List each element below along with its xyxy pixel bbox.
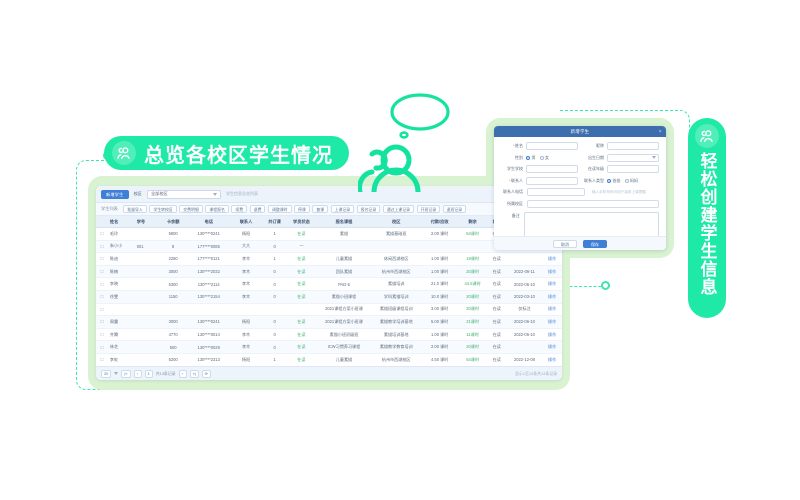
cell-name: 毛玲 bbox=[108, 231, 135, 237]
toolbar-button[interactable]: 课程报名 bbox=[205, 205, 229, 213]
cell-status: 一 bbox=[286, 243, 316, 249]
cell-course: 2021课程方案小班课 bbox=[317, 306, 372, 312]
cell-contact: 大大 bbox=[229, 243, 263, 249]
contact-label-text: 联系人 bbox=[511, 178, 523, 183]
column-header-money[interactable]: 付款/应收 bbox=[421, 219, 458, 225]
cell-phone: 130****0241 bbox=[188, 231, 229, 236]
table-header-row: 姓名 学号 卡余额 电话 联系人 共订课 学员状态 报名课程 校区 付款/应收 … bbox=[96, 216, 562, 228]
new-student-button[interactable]: 新增学生 bbox=[101, 190, 129, 199]
people-thought-bubble-icon bbox=[358, 88, 462, 192]
cell-date: 2022-12-08 bbox=[507, 357, 543, 362]
table-row[interactable]: ☐徐雯1150130****2154李木0在读素描小班课程学科素描培训10.0 … bbox=[96, 291, 562, 304]
record-range-text: 显示1至13条共13条记录 bbox=[515, 371, 557, 377]
cell-money: 2.00 课时 bbox=[421, 231, 458, 237]
form-row: 学生学校 在读年级 bbox=[501, 165, 659, 173]
cell-campus: 素描教学教育培训 bbox=[371, 344, 421, 350]
nickname-input[interactable] bbox=[607, 142, 659, 150]
form-row: 所属校区 bbox=[501, 200, 659, 208]
cell-amount: 3000 bbox=[158, 319, 188, 324]
cell-balance: 20课时 bbox=[458, 294, 487, 300]
cell-amount: 1150 bbox=[158, 294, 188, 299]
cell-course: 2021课程方案小班课 bbox=[317, 319, 372, 325]
cell-phone: 130****2313 bbox=[188, 357, 229, 362]
connector-dot-right bbox=[601, 281, 610, 290]
cell-name: 陈楠 bbox=[108, 269, 135, 275]
column-header-count[interactable]: 共订课 bbox=[263, 219, 286, 225]
cell-amount: 3000 bbox=[158, 269, 188, 274]
table-row[interactable]: ☐陈楠3000130****2032李木0在读团队素描杭州市西湖校区1.00 课… bbox=[96, 266, 562, 279]
cell-amount: 5300 bbox=[158, 282, 188, 287]
cell-phone: 130****0241 bbox=[188, 319, 229, 324]
contact-role-field-group: 联系人类型 爸爸 妈妈 bbox=[582, 178, 659, 184]
cell-operation[interactable]: 操作 bbox=[542, 357, 562, 363]
column-header-no[interactable]: 学号 bbox=[135, 219, 158, 225]
cell-name: 周露 bbox=[108, 319, 135, 325]
phone-label: 联系人电话 bbox=[501, 189, 523, 195]
cell-status: 在读 bbox=[286, 281, 316, 287]
row-select-checkbox[interactable]: ☐ bbox=[96, 357, 108, 362]
table-footer: 20 |« ‹ 1 共13条记录 › »| ⟳ 显示1至13条共13条记录 bbox=[96, 366, 562, 380]
close-icon[interactable]: × bbox=[659, 129, 662, 135]
radio-dot-icon bbox=[540, 156, 544, 160]
table-row[interactable]: ☐毛玲5800130****0241杨阳1在读素描素描基础班2.00 课时54课… bbox=[96, 228, 562, 241]
confirm-button[interactable]: 保存 bbox=[583, 240, 607, 248]
cell-amount: 5800 bbox=[158, 231, 188, 236]
cell-phone: 130****0014 bbox=[188, 332, 229, 337]
cell-balance: 20课时 bbox=[458, 306, 487, 312]
table-toolbar: 学生列表 批量导入 学生转校区 交费明细 课程报名 续费 退费 调整课时 停课 … bbox=[96, 203, 562, 216]
cell-contact: 李木 bbox=[229, 281, 263, 287]
table-row[interactable]: ☐2021课程方案小班课素描班级课程培训3.00 课时20课时在读仅标注操作 bbox=[96, 304, 562, 317]
cell-phone: 130****2032 bbox=[188, 269, 229, 274]
cell-phone: 177****0085 bbox=[188, 244, 229, 249]
remark-label: 备注 bbox=[501, 213, 520, 219]
cell-contact: 李木 bbox=[229, 332, 263, 338]
cell-money: 10.0 课时 bbox=[421, 294, 458, 300]
cell-date: 2022-06-10 bbox=[507, 282, 543, 287]
cell-course: 素描 bbox=[317, 231, 372, 237]
create-student-dialog: 新增学生 × *姓名 昵称 性别 男 女 bbox=[494, 126, 666, 250]
toolbar-button[interactable]: 批量导入 bbox=[123, 205, 147, 213]
school-input[interactable] bbox=[526, 165, 578, 173]
toolbar-button[interactable]: 交费明细 bbox=[179, 205, 203, 213]
cell-balance: 19课时 bbox=[458, 256, 487, 262]
cell-state: 在读 bbox=[487, 357, 507, 363]
cell-name: 徐雯 bbox=[108, 294, 135, 300]
grade-label: 在读年级 bbox=[582, 166, 604, 172]
cell-name: 陈迪 bbox=[108, 256, 135, 262]
people-icon bbox=[112, 141, 136, 165]
cell-campus: 素描培训基地 bbox=[371, 332, 421, 338]
cell-operation[interactable]: 操作 bbox=[542, 332, 562, 338]
badge-overview: 总览各校区学生情况 bbox=[104, 136, 349, 170]
cell-contact: 杨阳 bbox=[229, 231, 263, 237]
cell-money: 1.00 课时 bbox=[421, 332, 458, 338]
cell-contact: 李木 bbox=[229, 294, 263, 300]
column-header-amount[interactable]: 卡余额 bbox=[158, 219, 188, 225]
cell-state: 在读 bbox=[487, 269, 507, 275]
birthday-label: 出生日期 bbox=[582, 155, 604, 161]
birthday-input[interactable] bbox=[607, 154, 659, 162]
people-icon bbox=[695, 124, 719, 148]
toolbar-button[interactable]: 退费 bbox=[250, 205, 266, 213]
cell-status: 在读 bbox=[286, 319, 316, 325]
toolbar-button[interactable]: 退班记录 bbox=[443, 205, 467, 213]
nickname-field-group: 昵称 bbox=[582, 142, 659, 150]
cell-phone: 130****0029 bbox=[188, 345, 229, 350]
column-header-balance[interactable]: 剩余 bbox=[458, 219, 487, 225]
name-input[interactable] bbox=[526, 142, 578, 150]
cell-name: 李虹 bbox=[108, 357, 135, 363]
contact-field-group: *联系人 bbox=[501, 177, 578, 185]
cell-status: 在读 bbox=[286, 269, 316, 275]
phone-hint: 输入手机号码可用于接收上课提醒 bbox=[592, 190, 646, 195]
toolbar-button[interactable]: 开班记录 bbox=[417, 205, 441, 213]
cell-state: 在读 bbox=[487, 344, 507, 350]
cell-date: 2022-06-10 bbox=[507, 319, 543, 324]
name-label-text: 姓名 bbox=[515, 143, 523, 148]
badge-create-label: 轻松创建学生信息 bbox=[699, 152, 716, 296]
toolbar-button[interactable]: 复课 bbox=[312, 205, 328, 213]
toolbar-button[interactable]: 通过上课记录 bbox=[383, 205, 414, 213]
badge-overview-label: 总览各校区学生情况 bbox=[144, 139, 333, 168]
cell-campus: 素描教学培训基地 bbox=[371, 319, 421, 325]
table-row[interactable]: ☐朱小小0018177****0085大大0一操作 bbox=[96, 241, 562, 254]
dialog-title: 新增学生 bbox=[571, 129, 590, 135]
table-row[interactable]: ☐陈迪2280177****0121李木1在读儿童素描休闲西湖校区1.00 课时… bbox=[96, 253, 562, 266]
cell-campus: 素描基础班 bbox=[371, 231, 421, 237]
table-row[interactable]: ☐李虹5200130****2313杨阳1在读儿童素描杭州市西湖校区4.50 课… bbox=[96, 354, 562, 367]
row-select-checkbox[interactable]: ☐ bbox=[96, 269, 108, 274]
cell-course: 素描小班初级班 bbox=[317, 332, 372, 338]
form-row: 备注 bbox=[501, 212, 659, 239]
next-page-button[interactable]: › bbox=[179, 370, 187, 378]
toolbar-button[interactable]: 报名记录 bbox=[357, 205, 381, 213]
name-label: *姓名 bbox=[501, 143, 523, 149]
table-row[interactable]: ☐齐腾4770130****0014李木0在读素描小班初级班素描培训基地1.00… bbox=[96, 329, 562, 342]
table-row[interactable]: ☐李晓5300130****2114李木0在读PAD-5素描培训21.0 课时4… bbox=[96, 278, 562, 291]
cell-balance: 54课时 bbox=[458, 231, 487, 237]
cell-money: 1.00 课时 bbox=[421, 269, 458, 275]
first-page-button[interactable]: |« bbox=[121, 370, 130, 378]
cell-campus: 杭州市西湖校区 bbox=[371, 357, 421, 363]
cell-amount: 4770 bbox=[158, 332, 188, 337]
cell-date: 仅标注 bbox=[507, 306, 543, 312]
cell-amount: 2280 bbox=[158, 256, 188, 261]
cell-amount: 500 bbox=[158, 345, 188, 350]
cell-date: 2022-06-11 bbox=[507, 269, 543, 274]
row-select-checkbox[interactable]: ☐ bbox=[96, 244, 108, 249]
cell-count: 1 bbox=[263, 357, 286, 362]
total-records-text: 共13条记录 bbox=[156, 371, 176, 377]
radio-dot-icon bbox=[607, 179, 611, 183]
cell-contact: 杨阳 bbox=[229, 319, 263, 325]
cell-course: 儿童素描 bbox=[317, 357, 372, 363]
campus-filter-label: 校区 bbox=[134, 191, 142, 197]
contact-role-father-label: 爸爸 bbox=[613, 178, 621, 184]
cell-status: 在读 bbox=[286, 344, 316, 350]
name-field-group: *姓名 bbox=[501, 142, 578, 150]
refresh-icon[interactable]: ⟳ bbox=[202, 370, 211, 378]
cell-course: 团队素描 bbox=[317, 269, 372, 275]
cell-money: 5.00 课时 bbox=[421, 319, 458, 325]
form-row: *姓名 昵称 bbox=[501, 142, 659, 150]
cell-operation[interactable]: 操作 bbox=[542, 294, 562, 300]
cell-state: 在读 bbox=[487, 294, 507, 300]
cell-campus: 休闲西湖校区 bbox=[371, 256, 421, 262]
form-row: *联系人 联系人类型 爸爸 妈妈 bbox=[501, 177, 659, 185]
cell-count: 0 bbox=[263, 282, 286, 287]
column-header-contact[interactable]: 联系人 bbox=[229, 219, 263, 225]
cell-state: 在读 bbox=[487, 319, 507, 325]
cell-name: 朱小小 bbox=[108, 243, 135, 249]
cell-contact: 杨阳 bbox=[229, 357, 263, 363]
contact-label: *联系人 bbox=[501, 178, 523, 184]
campus-filter-value: 全部校区 bbox=[151, 191, 168, 197]
cell-balance: 44.5课时 bbox=[458, 281, 487, 287]
contact-role-father-radio[interactable]: 爸爸 bbox=[607, 178, 621, 184]
row-select-checkbox[interactable]: ☐ bbox=[96, 345, 108, 350]
contact-role-label: 联系人类型 bbox=[582, 178, 604, 184]
cell-campus: 素描班级课程培训 bbox=[371, 306, 421, 312]
cell-count: 0 bbox=[263, 244, 286, 249]
cell-course: 素描小班课程 bbox=[317, 294, 372, 300]
cell-course: 儿童素描 bbox=[317, 256, 372, 262]
contact-role-mother-label: 妈妈 bbox=[630, 178, 638, 184]
gender-radio-group: 男 女 bbox=[526, 155, 578, 161]
remark-textarea[interactable] bbox=[524, 212, 659, 239]
calendar-icon bbox=[652, 156, 656, 159]
campus-label: 所属校区 bbox=[501, 201, 523, 207]
toolbar-button[interactable]: 调整课时 bbox=[268, 205, 292, 213]
cell-state: 在读 bbox=[487, 281, 507, 287]
badge-create: 轻松创建学生信息 bbox=[688, 118, 726, 318]
cell-status: 在读 bbox=[286, 231, 316, 237]
row-select-checkbox[interactable]: ☐ bbox=[96, 231, 108, 236]
topbar-hint: 学生信息总览列表 bbox=[226, 191, 258, 197]
dialog-footer: 取消 保存 bbox=[494, 236, 666, 250]
window-topbar: 新增学生 校区 全部校区 学生信息总览列表 bbox=[96, 186, 562, 203]
toolbar-button[interactable]: 停课 bbox=[294, 205, 310, 213]
cell-money: 1.00 课时 bbox=[421, 256, 458, 262]
table-body: ☐毛玲5800130****0241杨阳1在读素描素描基础班2.00 课时54课… bbox=[96, 228, 562, 380]
form-row: 性别 男 女 出生日期 bbox=[501, 154, 659, 162]
column-header-status[interactable]: 学员状态 bbox=[286, 219, 316, 225]
cell-count: 0 bbox=[263, 332, 286, 337]
cell-operation[interactable]: 操作 bbox=[542, 256, 562, 262]
cell-balance: 21课时 bbox=[458, 319, 487, 325]
radio-dot-icon bbox=[526, 156, 530, 160]
toolbar-button[interactable]: 学生转校区 bbox=[149, 205, 176, 213]
cell-operation[interactable]: 操作 bbox=[542, 281, 562, 287]
cell-operation[interactable]: 操作 bbox=[542, 306, 562, 312]
cell-operation[interactable]: 操作 bbox=[542, 344, 562, 350]
cell-money: 3.00 课时 bbox=[421, 306, 458, 312]
cancel-button[interactable]: 取消 bbox=[553, 240, 577, 248]
cell-name: 齐腾 bbox=[108, 332, 135, 338]
cell-phone: 177****0121 bbox=[188, 256, 229, 261]
radio-dot-icon bbox=[625, 179, 629, 183]
chevron-down-icon bbox=[114, 372, 118, 375]
cell-state: 在读 bbox=[487, 306, 507, 312]
gender-label: 性别 bbox=[501, 155, 523, 161]
row-select-checkbox[interactable]: ☐ bbox=[96, 332, 108, 337]
column-header-name[interactable]: 姓名 bbox=[108, 219, 135, 225]
cell-operation[interactable]: 操作 bbox=[542, 319, 562, 325]
cell-status: 在读 bbox=[286, 256, 316, 262]
cell-phone: 130****2154 bbox=[188, 294, 229, 299]
current-page-input[interactable]: 1 bbox=[145, 370, 153, 378]
gender-male-radio[interactable]: 男 bbox=[526, 155, 536, 161]
cell-count: 0 bbox=[263, 345, 286, 350]
cell-count: 1 bbox=[263, 256, 286, 261]
dialog-body: *姓名 昵称 性别 男 女 出生日期 bbox=[494, 137, 666, 245]
dialog-title-bar: 新增学生 × bbox=[494, 126, 666, 137]
cell-money: 21.0 课时 bbox=[421, 281, 458, 287]
last-page-button[interactable]: »| bbox=[190, 370, 199, 378]
column-header-course[interactable]: 报名课程 bbox=[317, 219, 372, 225]
contact-role-mother-radio[interactable]: 妈妈 bbox=[625, 178, 639, 184]
cell-date: 2022-06-10 bbox=[507, 332, 543, 337]
cell-no: 001 bbox=[135, 244, 158, 249]
cell-contact: 李木 bbox=[229, 344, 263, 350]
grade-field-group: 在读年级 bbox=[582, 165, 659, 173]
cell-course: ICW习惯养习课程 bbox=[317, 344, 372, 350]
nickname-label: 昵称 bbox=[582, 143, 604, 149]
gender-field-group: 性别 男 女 bbox=[501, 155, 578, 161]
column-header-phone[interactable]: 电话 bbox=[188, 219, 229, 225]
cell-amount: 5200 bbox=[158, 357, 188, 362]
gender-male-label: 男 bbox=[532, 155, 536, 161]
row-select-checkbox[interactable]: ☐ bbox=[96, 319, 108, 324]
cell-course: PAD-5 bbox=[317, 282, 372, 287]
cell-name: 李晓 bbox=[108, 281, 135, 287]
cell-operation[interactable]: 操作 bbox=[542, 269, 562, 275]
campus-filter-select[interactable]: 全部校区 bbox=[147, 190, 221, 199]
student-list-window: 新增学生 校区 全部校区 学生信息总览列表 学生列表 批量导入 学生转校区 交费… bbox=[96, 186, 562, 380]
cell-balance: 20课时 bbox=[458, 344, 487, 350]
cell-status: 在读 bbox=[286, 332, 316, 338]
cell-campus: 素描培训 bbox=[371, 281, 421, 287]
cell-phone: 130****2114 bbox=[188, 282, 229, 287]
cell-count: 1 bbox=[263, 231, 286, 236]
birthday-field-group: 出生日期 bbox=[582, 154, 659, 162]
cell-date: 2022-03-10 bbox=[507, 294, 543, 299]
cell-state: 在读 bbox=[487, 256, 507, 262]
gender-female-label: 女 bbox=[545, 155, 549, 161]
campus-input[interactable] bbox=[527, 200, 659, 208]
cell-count: 0 bbox=[263, 319, 286, 324]
cell-money: 2.00 课时 bbox=[421, 344, 458, 350]
cell-balance: 20课时 bbox=[458, 269, 487, 275]
cell-status: 在读 bbox=[286, 357, 316, 363]
cell-amount: 8 bbox=[158, 244, 188, 249]
cell-name: 林芝 bbox=[108, 344, 135, 350]
contact-role-radio-group: 爸爸 妈妈 bbox=[607, 178, 659, 184]
page-size-select[interactable]: 20 bbox=[101, 370, 111, 378]
table-row[interactable]: ☐林芝500130****0029李木0在读ICW习惯养习课程素描教学教育培训2… bbox=[96, 341, 562, 354]
school-label: 学生学校 bbox=[501, 166, 523, 172]
gender-female-radio[interactable]: 女 bbox=[540, 155, 550, 161]
contact-input[interactable] bbox=[526, 177, 578, 185]
cell-contact: 李木 bbox=[229, 269, 263, 275]
cell-count: 0 bbox=[263, 294, 286, 299]
cell-contact: 李木 bbox=[229, 256, 263, 262]
column-header-campus[interactable]: 校区 bbox=[371, 219, 421, 225]
row-select-checkbox[interactable]: ☐ bbox=[96, 282, 108, 287]
form-row: 联系人电话 输入手机号码可用于接收上课提醒 bbox=[501, 188, 659, 196]
toolbar-button[interactable]: 上课记录 bbox=[331, 205, 355, 213]
row-select-checkbox[interactable]: ☐ bbox=[96, 256, 108, 261]
cell-count: 0 bbox=[263, 269, 286, 274]
toolbar-title: 学生列表 bbox=[101, 206, 118, 212]
school-field-group: 学生学校 bbox=[501, 165, 578, 173]
cell-campus: 杭州市西湖校区 bbox=[371, 269, 421, 275]
chevron-down-icon bbox=[213, 193, 217, 196]
cell-status: 在读 bbox=[286, 294, 316, 300]
grade-input[interactable] bbox=[607, 165, 659, 173]
row-select-checkbox[interactable]: ☐ bbox=[96, 307, 108, 312]
prev-page-button[interactable]: ‹ bbox=[134, 370, 142, 378]
phone-input[interactable] bbox=[527, 188, 585, 196]
cell-state: 在读 bbox=[487, 332, 507, 338]
cell-money: 4.50 课时 bbox=[421, 357, 458, 363]
cell-campus: 学科素描培训 bbox=[371, 294, 421, 300]
marketing-graphic: 新增学生 校区 全部校区 学生信息总览列表 学生列表 批量导入 学生转校区 交费… bbox=[0, 0, 800, 500]
toolbar-button[interactable]: 续费 bbox=[231, 205, 247, 213]
table-row[interactable]: ☐周露3000130****0241杨阳0在读2021课程方案小班课素描教学培训… bbox=[96, 316, 562, 329]
cell-balance: 54课时 bbox=[458, 357, 487, 363]
cell-balance: 11课时 bbox=[458, 332, 487, 338]
row-select-checkbox[interactable]: ☐ bbox=[96, 294, 108, 299]
